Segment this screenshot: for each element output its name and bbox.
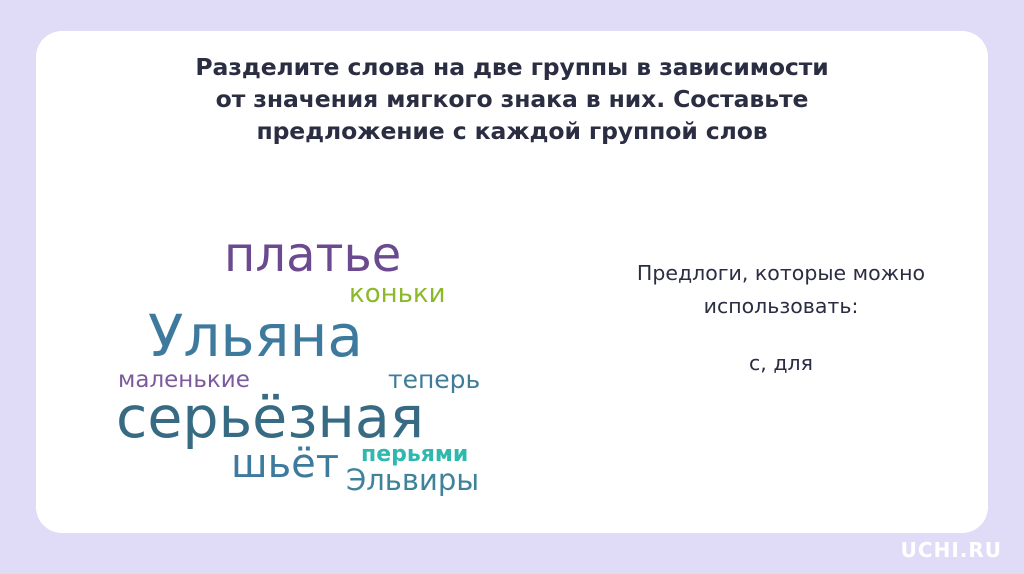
- prepositions-panel: Предлоги, которые можно использовать: с,…: [576, 257, 986, 377]
- title-line-1: Разделите слова на две группы в зависимо…: [116, 51, 908, 83]
- content-card: Разделите слова на две группы в зависимо…: [36, 31, 988, 533]
- word-cloud: платьеконькиУльянамаленькиетеперьсерьёзн…: [72, 199, 572, 499]
- prepositions-label: Предлоги, которые можно использовать:: [576, 257, 986, 323]
- word-cloud-item: шьёт: [231, 444, 339, 484]
- word-cloud-item: коньки: [349, 281, 446, 307]
- word-cloud-item: серьёзная: [116, 390, 424, 447]
- word-cloud-item: Ульяна: [148, 307, 363, 365]
- word-cloud-item: платье: [224, 231, 401, 279]
- prepositions-values: с, для: [576, 349, 986, 377]
- prepositions-label-line-2: использовать:: [576, 290, 986, 323]
- word-cloud-item: Эльвиры: [346, 466, 479, 495]
- title-line-2: от значения мягкого знака в них. Составь…: [116, 83, 908, 115]
- uchi-ru-logo: UCHI.RU: [901, 538, 1002, 562]
- title-line-3: предложение с каждой группой слов: [116, 115, 908, 147]
- slide-root: Разделите слова на две группы в зависимо…: [0, 0, 1024, 574]
- page-title: Разделите слова на две группы в зависимо…: [116, 51, 908, 147]
- prepositions-label-line-1: Предлоги, которые можно: [576, 257, 986, 290]
